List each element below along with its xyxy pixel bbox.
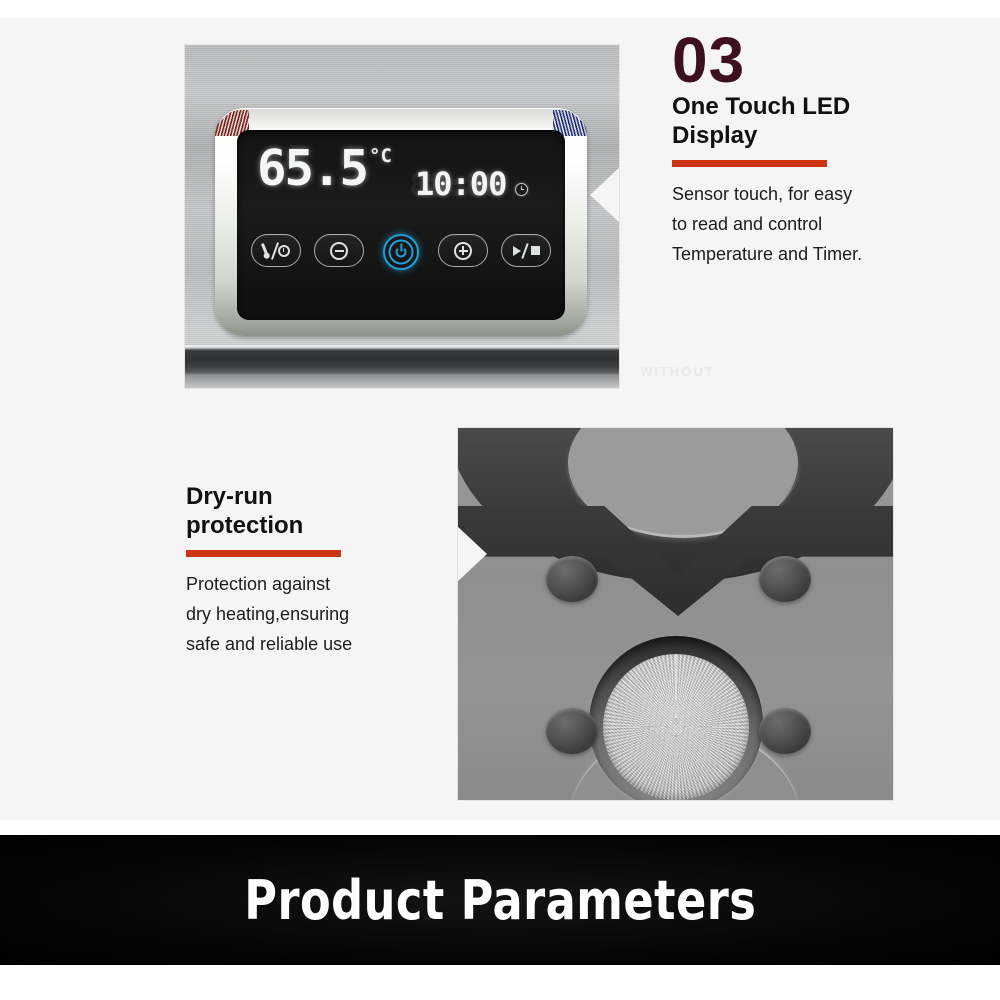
minus-circle-icon [330,242,348,260]
top-white-strip [0,0,1000,18]
feature-title-line2: Display [672,121,972,150]
power-button[interactable] [377,234,425,269]
temperature-unit: °C [369,147,392,166]
feature-body-line1: Sensor touch, for easy [672,179,972,209]
feature-title-line1: Dry-run [186,482,436,511]
start-stop-button[interactable] [501,234,551,267]
timer-readout: 88:88 10:00 [415,168,528,201]
feature-body-dryrun: Protection against dry heating,ensuring … [186,569,436,659]
feature-title-dryrun: Dry-run protection [186,482,436,540]
footer-bottom-white-strip [0,965,1000,1000]
feature-body-led: Sensor touch, for easy to read and contr… [672,179,972,269]
product-parameters-banner: Product Parameters [0,835,1000,965]
plus-circle-icon [454,242,472,260]
accent-bar-dryrun [186,550,341,557]
temperature-value: 65.5 [257,144,367,194]
steel-band-shadow [185,375,619,388]
dry-run-photo [458,428,893,800]
feature-body-line3: Temperature and Timer. [672,239,972,269]
steel-dark-band [185,345,619,375]
led-button-row [237,234,565,269]
step-number: 03 [672,28,972,92]
footer-gap [0,820,1000,835]
feature-title-line1: One Touch LED [672,92,972,121]
feature-body-line2: dry heating,ensuring [186,599,436,629]
increase-button[interactable] [438,234,488,267]
bumper-top-right [759,556,811,602]
power-icon [396,246,407,257]
product-feature-page: 65.5 °C 88:88 10:00 [0,0,1000,1000]
dry-run-text-block: Dry-run protection Protection against dr… [186,482,436,659]
bumper-bottom-right [759,708,811,754]
bumper-bottom-left [546,708,598,754]
heating-element-recess [589,636,763,800]
textured-metal-disc [603,654,749,800]
led-readout-row: 65.5 °C 88:88 10:00 [237,144,565,216]
feature-title-line2: protection [186,511,436,540]
clock-icon [515,183,528,196]
feature-body-line2: to read and control [672,209,972,239]
led-display-photo: 65.5 °C 88:88 10:00 [185,45,619,388]
timer-value: 10:00 [415,168,506,201]
feature-title-led: One Touch LED Display [672,92,972,150]
temp-timer-toggle-button[interactable] [251,234,301,267]
feature-body-line3: safe and reliable use [186,629,436,659]
bumper-top-left [546,556,598,602]
led-touch-panel: 65.5 °C 88:88 10:00 [237,130,565,320]
temperature-readout: 65.5 °C [257,144,392,194]
led-display-text-block: 03 One Touch LED Display Sensor touch, f… [672,28,972,269]
thermometer-clock-icon [260,242,292,260]
play-stop-icon [510,242,542,260]
accent-bar-led [672,160,827,167]
feature-body-line1: Protection against [186,569,436,599]
footer-title: Product Parameters [244,869,756,932]
decrease-button[interactable] [314,234,364,267]
background-watermark: WITHOUT [640,364,940,379]
